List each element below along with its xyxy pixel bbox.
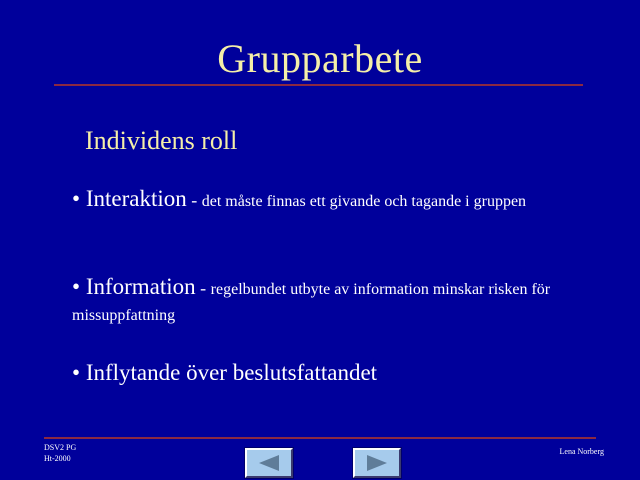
bullet-item-2: • Information - regelbundet utbyte av in… <box>72 272 584 329</box>
bullet-marker-3: • <box>72 360 80 385</box>
title-divider-rule <box>54 84 583 86</box>
bullet-marker-2: • <box>72 274 80 299</box>
bullet-tail-1: det måste finnas ett givande och tagande… <box>202 193 526 210</box>
bullet-lead-3: Inflytande över beslutsfattandet <box>86 360 377 385</box>
footer-course-code: DSV2 PG <box>44 442 76 453</box>
triangle-right-icon <box>366 454 388 472</box>
triangle-left-icon <box>258 454 280 472</box>
bullet-dash-1: - <box>187 190 202 210</box>
slide-title: Grupparbete <box>0 36 640 82</box>
bullet-marker-1: • <box>72 186 80 211</box>
bullet-item-1: • Interaktion - det måste finnas ett giv… <box>72 184 584 215</box>
previous-slide-button[interactable] <box>245 448 293 478</box>
footer-author: Lena Norberg <box>560 446 605 457</box>
footer-divider-rule <box>44 437 596 439</box>
bullet-lead-1: Interaktion <box>86 186 187 211</box>
bullet-lead-2: Information <box>86 274 196 299</box>
footer-left-text: DSV2 PG Ht-2000 <box>44 442 76 464</box>
bullet-item-3: • Inflytande över beslutsfattandet <box>72 358 584 388</box>
presentation-slide: Grupparbete Individens roll • Interaktio… <box>0 0 640 480</box>
next-slide-button[interactable] <box>353 448 401 478</box>
bullet-dash-2: - <box>196 278 211 298</box>
footer-term: Ht-2000 <box>44 453 76 464</box>
slide-subtitle: Individens roll <box>85 125 237 157</box>
